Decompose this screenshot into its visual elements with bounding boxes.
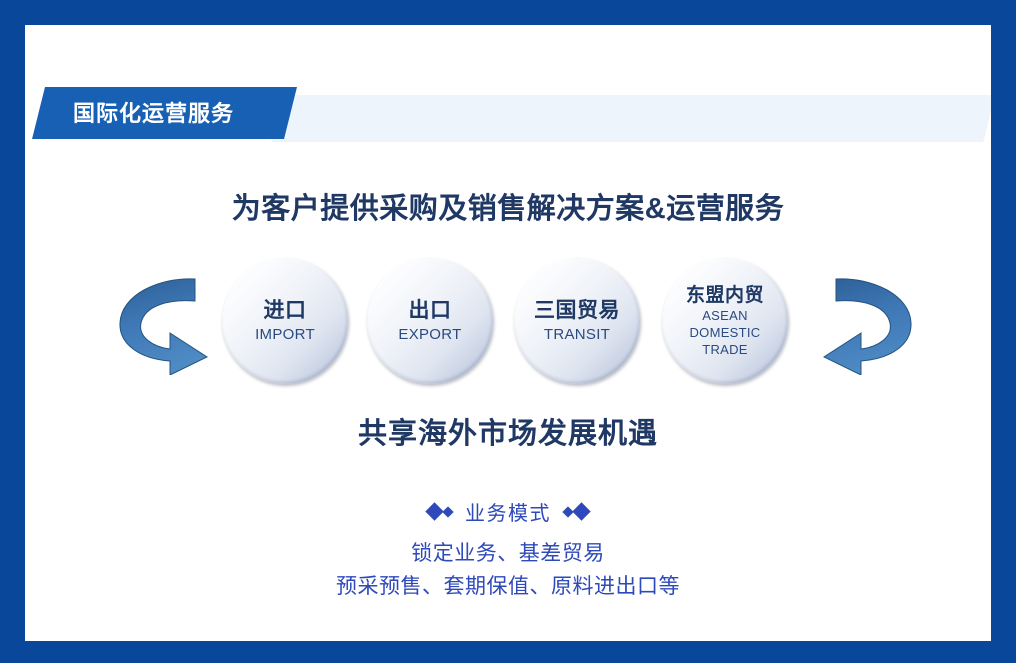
business-model-details: 锁定业务、基差贸易 预采预售、套期保值、原料进出口等 (25, 538, 991, 603)
detail-line: 预采预售、套期保值、原料进出口等 (25, 571, 991, 604)
circle-label-en: EXPORT (398, 326, 461, 343)
circle-label-en: TRANSIT (544, 326, 610, 343)
circle-import: 进口 IMPORT (222, 258, 348, 384)
circle-label-en-line2: DOMESTIC (689, 325, 760, 340)
circle-label-en-line1: ASEAN (702, 308, 748, 323)
circle-label-en: IMPORT (255, 326, 315, 343)
slide-canvas: 国际化运营服务 为客户提供采购及销售解决方案&运营服务 (25, 25, 991, 641)
business-model-heading: 业务模式 (25, 497, 991, 526)
detail-line: 锁定业务、基差贸易 (25, 538, 991, 571)
circle-label-cn: 三国贸易 (534, 299, 620, 323)
circle-label-cn: 出口 (409, 299, 452, 323)
circle-label-cn: 东盟内贸 (686, 285, 764, 306)
business-model-label: 业务模式 (465, 497, 551, 526)
section-title: 国际化运营服务 (73, 97, 303, 131)
header-band-light (271, 95, 991, 142)
curved-arrow-right-icon (117, 271, 211, 375)
header-band: 国际化运营服务 (25, 25, 991, 155)
diamond-large-icon (572, 502, 590, 520)
circle-transit: 三国贸易 TRANSIT (514, 258, 640, 384)
circle-asean-domestic-trade: 东盟内贸 ASEAN DOMESTIC TRADE (662, 258, 788, 384)
circle-export: 出口 EXPORT (367, 258, 493, 384)
page-title: 为客户提供采购及销售解决方案&运营服务 (25, 185, 991, 227)
page-subtitle: 共享海外市场发展机遇 (25, 410, 991, 452)
slide-frame: 国际化运营服务 为客户提供采购及销售解决方案&运营服务 (0, 0, 1016, 663)
circle-label-cn: 进口 (264, 299, 307, 323)
diamond-ornament-left (428, 505, 452, 518)
diamond-ornament-right (564, 505, 588, 518)
curved-arrow-left-icon (820, 271, 914, 375)
process-diagram: 进口 IMPORT 出口 EXPORT 三国贸易 TRANSIT 东盟内贸 AS… (25, 253, 991, 393)
circle-label-en-line3: TRADE (702, 342, 748, 357)
diamond-small-icon (442, 506, 453, 517)
